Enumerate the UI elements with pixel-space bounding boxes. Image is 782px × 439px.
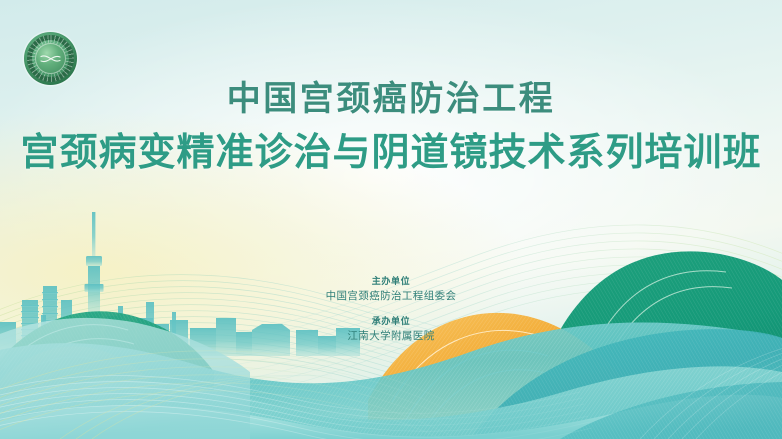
organizer-role-label: 主办单位 [0,276,782,289]
organization-seal-emblem [24,32,77,85]
emblem-inner-disc [35,43,66,74]
page-subtitle: 宫颈病变精准诊治与阴道镜技术系列培训班 [0,133,782,171]
conference-poster: 中国宫颈癌防治工程 宫颈病变精准诊治与阴道镜技术系列培训班 主办单位 中国宫颈癌… [0,0,782,439]
emblem-center-mark [35,43,66,74]
organizer-name: 中国宫颈癌防治工程组委会 [0,289,782,304]
layered-wave-hills [0,0,782,439]
decor-line-pattern-lower [0,0,782,439]
city-skyline-silhouette [0,0,782,439]
page-title: 中国宫颈癌防治工程 [0,82,782,116]
organizer-role-label: 承办单位 [0,316,782,329]
organizer-name: 江南大学附属医院 [0,329,782,344]
organizer-block: 主办单位 中国宫颈癌防治工程组委会 承办单位 江南大学附属医院 [0,276,782,356]
organizer-group-coorganizer: 承办单位 江南大学附属医院 [0,316,782,344]
organizer-group-host: 主办单位 中国宫颈癌防治工程组委会 [0,276,782,304]
decor-line-pattern-upper [0,0,782,439]
